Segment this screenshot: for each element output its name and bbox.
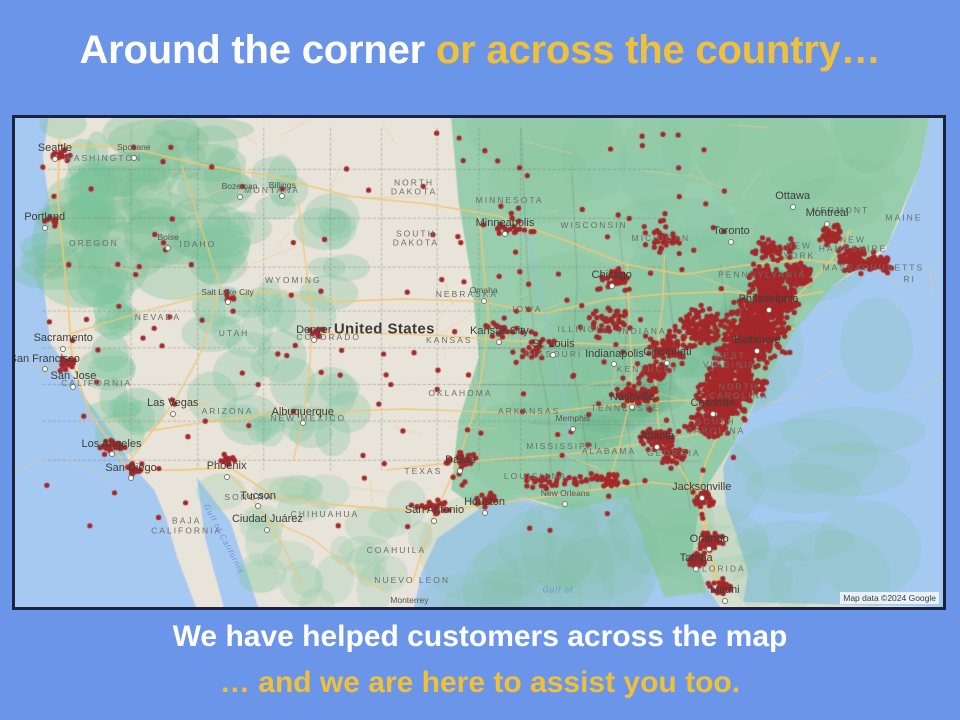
map-city-marker xyxy=(710,411,716,417)
footer-line-2: … and we are here to assist you too. xyxy=(0,660,960,706)
map-city-marker xyxy=(611,361,617,367)
map-attribution: Map data ©2024 Google xyxy=(840,592,939,604)
map-city-marker xyxy=(728,239,734,245)
map-city-marker xyxy=(300,420,306,426)
map-city-marker xyxy=(60,346,66,352)
map-city-marker xyxy=(693,566,699,572)
map-city-marker xyxy=(706,546,712,552)
map-city-marker xyxy=(790,204,796,210)
headline-white-part: Around the corner xyxy=(79,28,435,72)
map-city-marker xyxy=(496,339,502,345)
map-city-marker xyxy=(406,607,412,610)
map-city-marker xyxy=(42,225,48,231)
map-city-marker xyxy=(52,156,58,162)
map-city-marker xyxy=(170,411,176,417)
map-city-marker xyxy=(824,221,830,227)
map-city-marker xyxy=(131,155,137,161)
map-city-marker xyxy=(482,510,488,516)
map-city-marker xyxy=(699,495,705,501)
map-city-marker xyxy=(481,298,487,304)
map-city-marker xyxy=(70,384,76,390)
map-city-marker xyxy=(502,231,508,237)
map-city-marker xyxy=(311,337,317,343)
map-city-marker xyxy=(754,348,760,354)
map-city-marker xyxy=(654,444,660,450)
map-city-marker xyxy=(664,360,670,366)
map-city-marker xyxy=(224,474,230,480)
map-city-marker xyxy=(550,352,556,358)
map-city-marker xyxy=(609,283,615,289)
map-city-marker xyxy=(225,299,231,305)
map-city-marker xyxy=(766,307,772,313)
map-city-marker xyxy=(431,518,437,524)
map-city-marker xyxy=(165,245,171,251)
map-city-marker xyxy=(629,404,635,410)
map-city-marker xyxy=(570,426,576,432)
footer-text: We have helped customers across the map … xyxy=(0,614,960,706)
map-city-marker xyxy=(264,527,270,533)
page-title: Around the corner or across the country… xyxy=(0,26,960,74)
map-city-marker xyxy=(562,501,568,507)
map-city-marker xyxy=(457,468,463,474)
map-image[interactable] xyxy=(15,118,943,607)
map-city-marker xyxy=(279,193,285,199)
headline-gold-part: or across the country… xyxy=(436,28,881,72)
map-city-marker xyxy=(237,194,243,200)
map-city-marker xyxy=(109,451,115,457)
map-city-marker xyxy=(722,598,728,604)
map-city-marker xyxy=(128,475,134,481)
map-container[interactable]: United StatesWASHINGTONOREGONIDAHOMONTAN… xyxy=(12,115,946,610)
map-city-marker xyxy=(42,366,48,372)
footer-line-1: We have helped customers across the map xyxy=(0,614,960,660)
map-city-marker xyxy=(255,503,261,509)
